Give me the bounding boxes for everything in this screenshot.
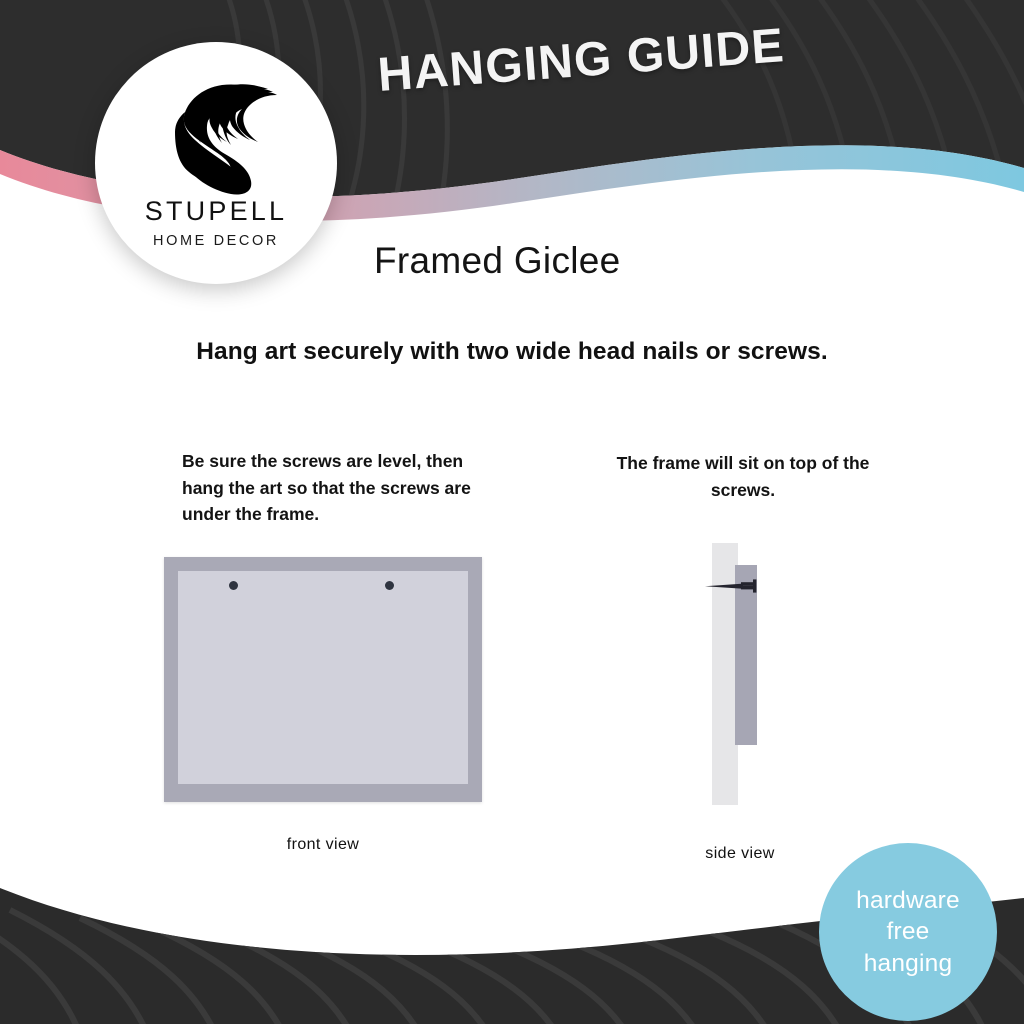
front-view-label: front view (164, 836, 482, 854)
badge-line-3: hanging (864, 948, 953, 979)
stupell-logo-badge: STUPELL HOME DECOR (95, 42, 337, 284)
nail-side-profile-icon (703, 578, 763, 594)
hardware-free-hanging-badge: hardware free hanging (819, 843, 997, 1021)
badge-line-1: hardware (856, 885, 960, 916)
logo-tagline: HOME DECOR (153, 234, 279, 249)
front-view-caption: Be sure the screws are level, then hang … (182, 448, 482, 528)
frame-mat-area (178, 571, 468, 784)
side-view-diagram (690, 543, 780, 805)
side-view-caption: The frame will sit on top of the screws. (598, 450, 888, 503)
stupell-swirl-s-logo-icon (151, 64, 281, 196)
product-name: Framed Giclee (374, 240, 621, 282)
hanging-guide-page: STUPELL HOME DECOR HANGING GUIDE Framed … (0, 0, 1024, 1024)
side-view-label: side view (660, 845, 820, 863)
screw-dot-right (385, 581, 394, 590)
screw-dot-left (229, 581, 238, 590)
logo-wordmark: STUPELL (145, 198, 287, 225)
front-view-diagram (164, 557, 482, 802)
main-instruction-text: Hang art securely with two wide head nai… (0, 338, 1024, 366)
badge-line-2: free (886, 916, 929, 947)
